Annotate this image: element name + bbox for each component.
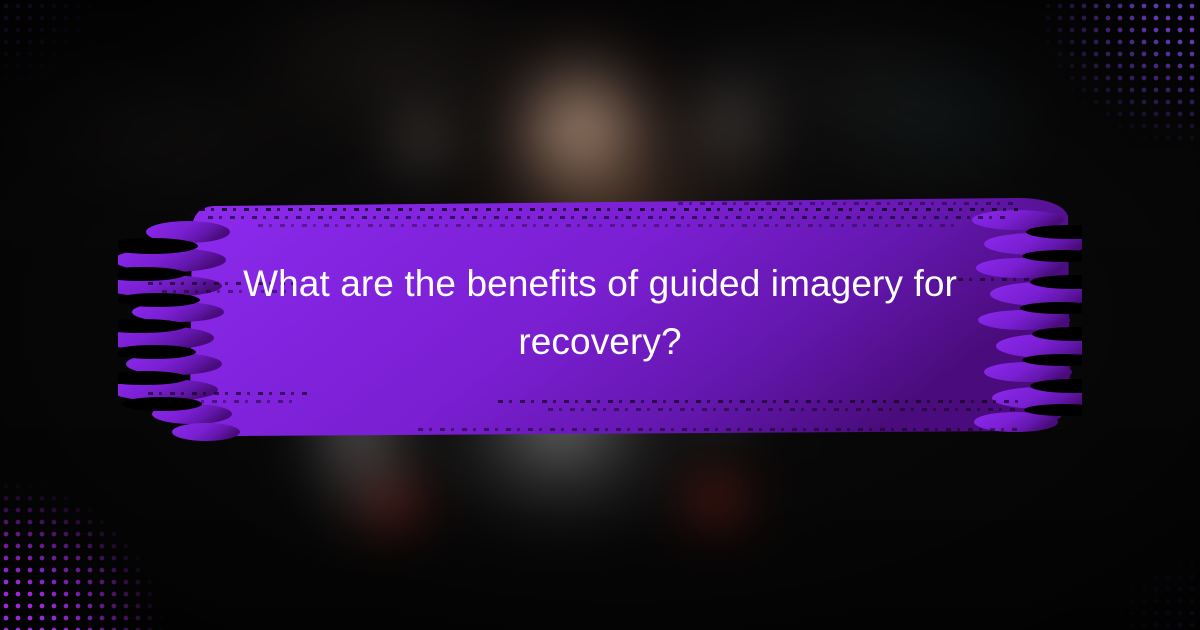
halftone-dots-bottom-left-icon bbox=[0, 480, 170, 630]
page-title-line-2: recovery? bbox=[518, 321, 681, 362]
banner-canvas: What are the benefits of guided imagery … bbox=[0, 0, 1200, 630]
page-title-line-1: What are the benefits of guided imagery … bbox=[243, 263, 957, 304]
halftone-dots-bottom-right-icon bbox=[1090, 535, 1200, 630]
halftone-dots-top-left-icon bbox=[0, 0, 110, 95]
page-title: What are the benefits of guided imagery … bbox=[150, 255, 1050, 371]
halftone-dots-top-right-icon bbox=[1030, 0, 1200, 150]
